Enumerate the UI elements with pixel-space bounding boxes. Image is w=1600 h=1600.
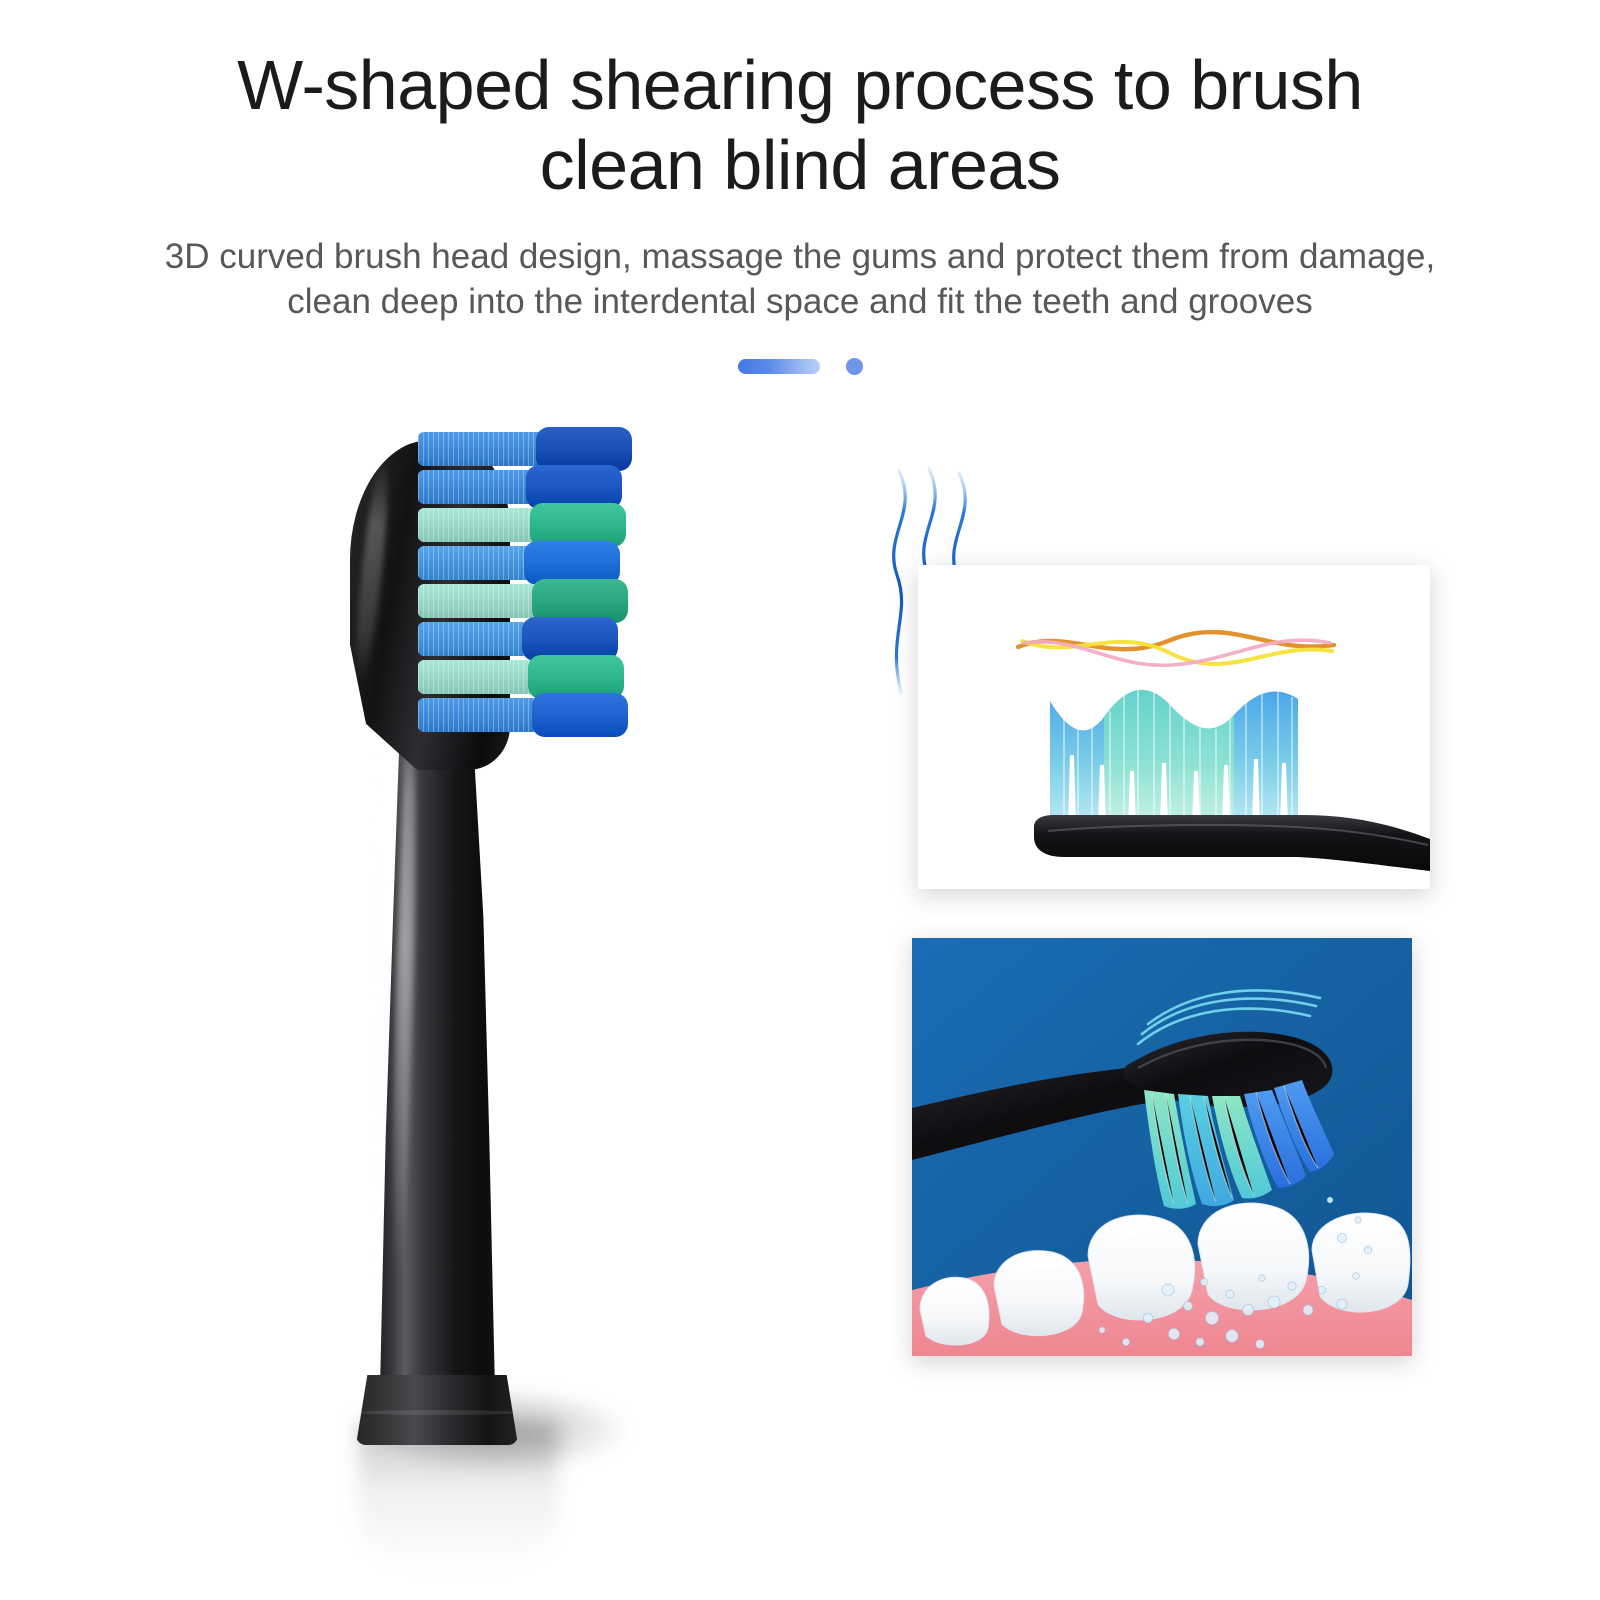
bristle-tip-cluster bbox=[532, 693, 628, 737]
bristle-row bbox=[418, 584, 596, 618]
inset-card-w-profile[interactable] bbox=[918, 565, 1430, 889]
bristle-row bbox=[418, 698, 590, 732]
header: W-shaped shearing process to brush clean… bbox=[0, 0, 1600, 325]
inset-card-brushing-teeth[interactable] bbox=[912, 938, 1412, 1356]
bristle-row bbox=[418, 622, 586, 656]
image-stage bbox=[0, 400, 1600, 1600]
pagination-indicator-2[interactable] bbox=[846, 358, 863, 375]
brush-neck-edge-light bbox=[374, 728, 382, 1328]
bristle-row bbox=[418, 508, 594, 542]
brush-base-ring bbox=[358, 1410, 516, 1415]
page-subtitle: 3D curved brush head design, massage the… bbox=[145, 234, 1455, 325]
brushing-illustration bbox=[912, 938, 1412, 1356]
bristle-cluster bbox=[418, 432, 678, 752]
bristle-row bbox=[418, 432, 590, 466]
page-title: W-shaped shearing process to brush clean… bbox=[210, 46, 1390, 206]
product-feature-page: W-shaped shearing process to brush clean… bbox=[0, 0, 1600, 1600]
carousel-pagination[interactable] bbox=[0, 358, 1600, 375]
w-profile-illustration bbox=[918, 565, 1430, 889]
bristle-row bbox=[418, 546, 588, 580]
hero-toothbrush-head bbox=[300, 410, 720, 1570]
bristle-row bbox=[418, 470, 584, 504]
pagination-indicator-active[interactable] bbox=[738, 359, 820, 374]
bristle-row bbox=[418, 660, 594, 694]
brush-neck bbox=[362, 710, 510, 1400]
